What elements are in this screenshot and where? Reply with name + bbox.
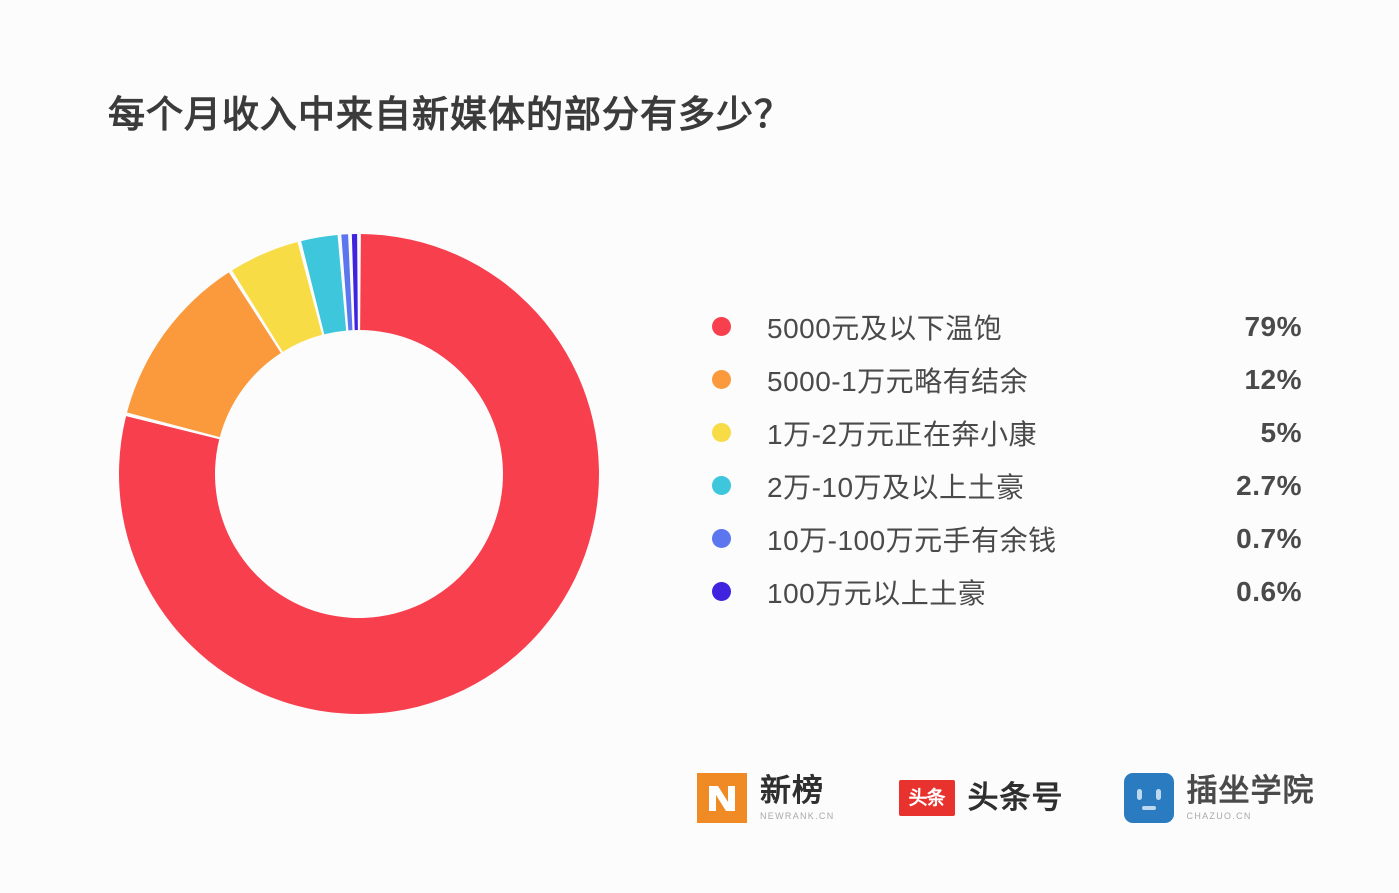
legend-label: 5000-1万元略有结余	[767, 360, 1192, 400]
legend-value: 5%	[1192, 417, 1302, 449]
donut-chart	[118, 233, 600, 715]
toutiao-mark-icon: 头条	[899, 780, 955, 816]
legend-item[interactable]: 100万元以上土豪0.6%	[712, 565, 1302, 618]
chazuo-name: 插坐学院	[1187, 775, 1315, 808]
donut-slices	[119, 234, 599, 714]
chart-legend: 5000元及以下温饱79%5000-1万元略有结余12%1万-2万元正在奔小康5…	[712, 300, 1302, 618]
logo-newrank: 新榜 NEWRANK.CN	[697, 773, 835, 823]
newrank-text: 新榜 NEWRANK.CN	[760, 775, 835, 821]
newrank-mark-icon	[697, 773, 747, 823]
logo-toutiaohao: 头条 头条号	[899, 780, 1064, 816]
logo-chazuo: 插坐学院 CHAZUO.CN	[1124, 773, 1315, 823]
legend-color-dot	[712, 582, 731, 601]
page-title: 每个月收入中来自新媒体的部分有多少？	[108, 84, 792, 138]
legend-value: 0.6%	[1192, 576, 1302, 608]
legend-color-dot	[712, 476, 731, 495]
legend-label: 10万-100万元手有余钱	[767, 519, 1192, 559]
legend-label: 100万元以上土豪	[767, 572, 1192, 612]
legend-value: 2.7%	[1192, 470, 1302, 502]
chazuo-sub: CHAZUO.CN	[1187, 811, 1315, 821]
legend-value: 79%	[1192, 311, 1302, 343]
legend-label: 2万-10万及以上土豪	[767, 466, 1192, 506]
donut-slice[interactable]	[352, 234, 358, 330]
footer-logos: 新榜 NEWRANK.CN 头条 头条号 插坐学院 CHAZU	[697, 773, 1315, 823]
chazuo-mark-icon	[1124, 773, 1174, 823]
newrank-sub: NEWRANK.CN	[760, 811, 835, 821]
legend-item[interactable]: 5000-1万元略有结余12%	[712, 353, 1302, 406]
legend-color-dot	[712, 423, 731, 442]
legend-label: 5000元及以下温饱	[767, 307, 1192, 347]
legend-color-dot	[712, 370, 731, 389]
legend-item[interactable]: 1万-2万元正在奔小康5%	[712, 406, 1302, 459]
chart-slide: 每个月收入中来自新媒体的部分有多少？ 5000元及以下温饱79%5000-1万元…	[0, 0, 1399, 893]
donut-svg	[118, 233, 600, 715]
newrank-name: 新榜	[760, 775, 835, 808]
legend-value: 12%	[1192, 364, 1302, 396]
toutiao-mark-text: 头条	[909, 789, 945, 808]
legend-color-dot	[712, 317, 731, 336]
chazuo-text: 插坐学院 CHAZUO.CN	[1187, 775, 1315, 821]
legend-item[interactable]: 2万-10万及以上土豪2.7%	[712, 459, 1302, 512]
legend-item[interactable]: 5000元及以下温饱79%	[712, 300, 1302, 353]
legend-color-dot	[712, 529, 731, 548]
legend-item[interactable]: 10万-100万元手有余钱0.7%	[712, 512, 1302, 565]
legend-value: 0.7%	[1192, 523, 1302, 555]
toutiao-text: 头条号	[968, 782, 1064, 815]
legend-label: 1万-2万元正在奔小康	[767, 413, 1192, 453]
toutiao-name: 头条号	[968, 782, 1064, 815]
